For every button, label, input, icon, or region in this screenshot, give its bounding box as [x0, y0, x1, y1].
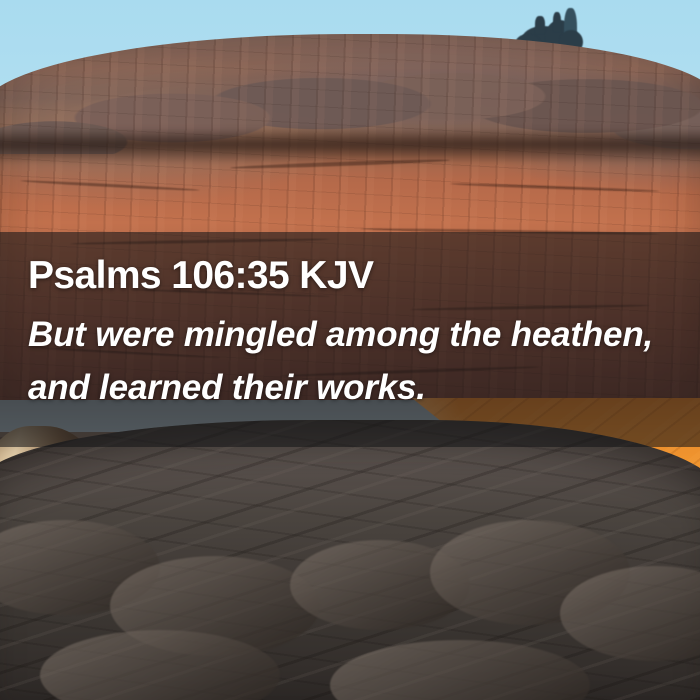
- verse-reference: Psalms 106:35 KJV: [28, 254, 373, 298]
- verse-image-card: Psalms 106:35 KJV But were mingled among…: [0, 0, 700, 700]
- ridge-shadow: [0, 128, 700, 164]
- verse-text: But were mingled among the heathen, and …: [28, 308, 688, 414]
